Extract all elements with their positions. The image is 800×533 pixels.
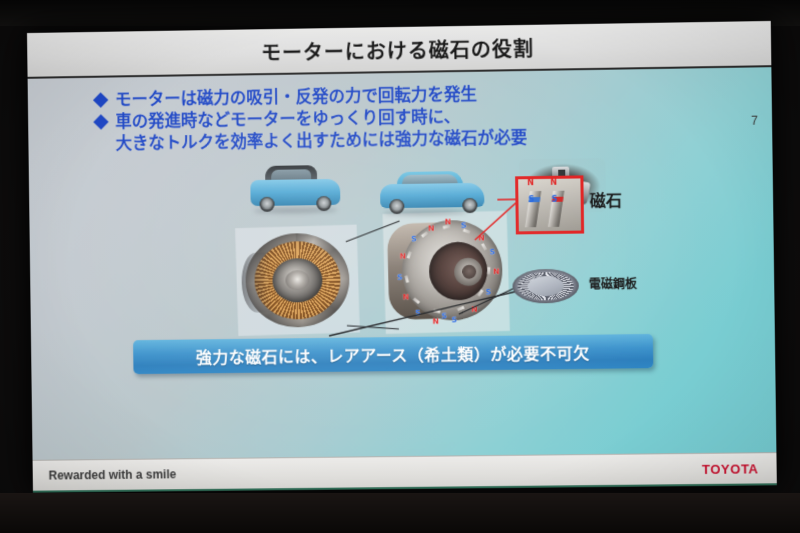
rotor-pole-label-s: S (415, 308, 421, 317)
footer-tagline: Rewarded with a smile (49, 467, 177, 482)
bar-magnets-photo: N N S S (515, 175, 584, 234)
room-floor-area (0, 493, 800, 533)
rotor-magnet-tick (487, 267, 490, 274)
magnet-north-label: N (550, 178, 557, 187)
rotor-pole-label-n: N (400, 251, 407, 260)
rotor-pole-label-s: S (411, 234, 417, 243)
electrical-steel-ring-photo (512, 269, 579, 304)
magnet-north-label: N (527, 178, 534, 187)
projection-screen: モーターにおける磁石の役割 7 モーターは磁力の吸引・反発の力で回転力を発生 車… (27, 21, 777, 493)
car-wheel (259, 197, 274, 212)
toyota-logo: TOYOTA (702, 461, 759, 477)
stator-shadow (241, 252, 273, 313)
slide-title: モーターにおける磁石の役割 (27, 29, 771, 70)
rotor-pole-label-n: N (493, 267, 500, 276)
rotor-pole-label-n: N (471, 305, 478, 314)
vehicle-photo-row (29, 156, 774, 228)
summary-banner: 強力な磁石には、レアアース（希土類）が必要不可欠 (133, 334, 653, 374)
rotor-pole-label-s: S (486, 287, 492, 296)
rotor-pole-label-s: S (490, 247, 496, 256)
rotor-pole-label-s: S (441, 311, 447, 320)
compact-ev-photo (247, 164, 343, 215)
diamond-bullet-icon (93, 114, 108, 129)
motor-rotor-photo: N S N S N S N S N S N S N S N S (383, 211, 510, 334)
rotor-pole-label-n: N (432, 317, 439, 326)
presentation-slide: モーターにおける磁石の役割 7 モーターは磁力の吸引・反発の力で回転力を発生 車… (27, 21, 777, 493)
bullet-text-3: 大きなトルクを効率よく出すためには強力な磁石が必要 (116, 127, 528, 155)
car-wheel (462, 198, 477, 213)
bullet-list: モーターは磁力の吸引・反発の力で回転力を発生 車の発進時などモーターをゆっくり回… (95, 83, 527, 156)
diamond-bullet-icon (93, 92, 108, 107)
rotor-pole-label-n: N (403, 292, 410, 301)
summary-banner-text: 強力な磁石には、レアアース（希土類）が必要不可欠 (196, 340, 590, 369)
steel-sheet-callout-label: 電磁鋼板 (589, 275, 638, 293)
magnet-south-label: S (528, 195, 534, 204)
slide-body: 7 モーターは磁力の吸引・反発の力で回転力を発生 車の発進時などモーターをゆっく… (28, 67, 777, 460)
rotor-pole-label-s: S (397, 273, 403, 282)
magnet-south-label: S (551, 195, 557, 204)
motor-stator-photo (235, 225, 360, 336)
rotor-pole-label-s: S (461, 221, 467, 230)
rotor-pole-label-s: S (451, 315, 457, 324)
slide-footer: Rewarded with a smile TOYOTA (33, 452, 777, 493)
page-number: 7 (751, 114, 758, 128)
stator-assembly (244, 232, 351, 329)
car-wheel (316, 196, 331, 211)
magnet-callout-label: 磁石 (590, 187, 623, 212)
rotor-pole-label-n: N (428, 224, 435, 233)
hybrid-sedan-photo (377, 164, 490, 218)
conference-room-photo: モーターにおける磁石の役割 7 モーターは磁力の吸引・反発の力で回転力を発生 車… (0, 0, 800, 533)
rotor-pole-label-n: N (478, 233, 485, 242)
